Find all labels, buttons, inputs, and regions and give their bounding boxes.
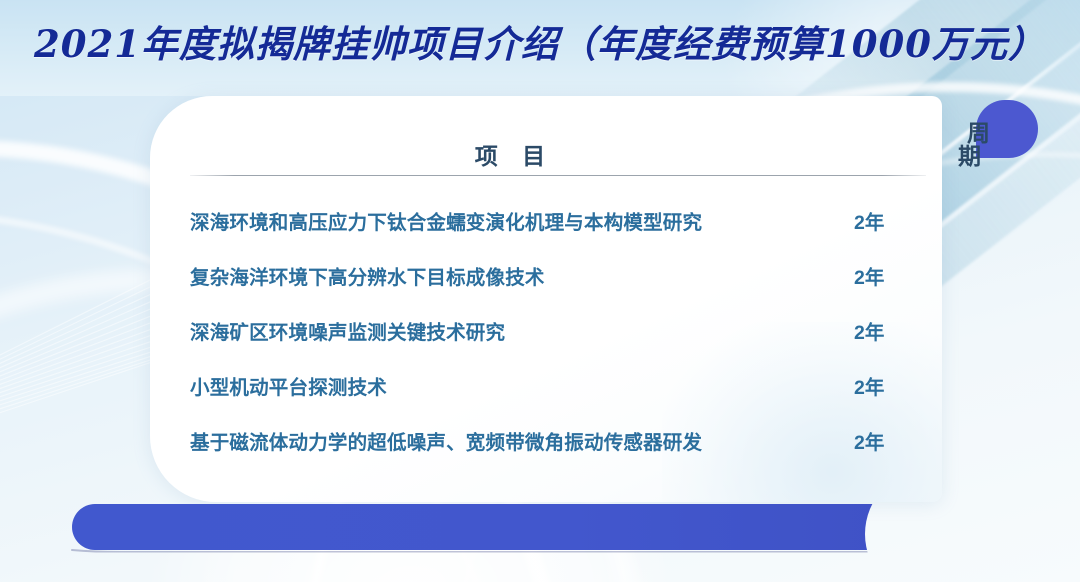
cell-project-name: 复杂海洋环境下高分辨水下目标成像技术 xyxy=(190,261,840,290)
cell-project-period: 2年 xyxy=(840,371,926,400)
cell-project-period: 2年 xyxy=(840,261,926,290)
cell-project-name: 深海环境和高压应力下钛合金蠕变演化机理与本构模型研究 xyxy=(190,206,840,235)
table-row[interactable]: 基于磁流体动力学的超低噪声、宽频带微角振动传感器研发 2年 xyxy=(190,413,926,468)
page-title: 2021年度拟揭牌挂帅项目介绍（年度经费预算1000万元） xyxy=(0,14,1080,68)
table-row[interactable]: 复杂海洋环境下高分辨水下目标成像技术 2年 xyxy=(190,248,926,303)
header-divider xyxy=(190,175,926,176)
table-row[interactable]: 小型机动平台探测技术 2年 xyxy=(190,358,926,413)
cell-project-period: 2年 xyxy=(840,426,926,455)
column-header-item: 项 目 xyxy=(190,145,950,168)
cell-project-name: 深海矿区环境噪声监测关键技术研究 xyxy=(190,316,840,345)
table-row[interactable]: 深海矿区环境噪声监测关键技术研究 2年 xyxy=(190,303,926,358)
slide-canvas: 2021年度拟揭牌挂帅项目介绍（年度经费预算1000万元） 项 目 周 期 深海… xyxy=(0,0,1080,582)
cell-project-period: 2年 xyxy=(840,206,926,235)
cell-project-name: 小型机动平台探测技术 xyxy=(190,371,840,400)
table-header-row: 项 目 周 期 xyxy=(190,120,926,168)
cell-project-name: 基于磁流体动力学的超低噪声、宽频带微角振动传感器研发 xyxy=(190,426,840,455)
column-header-period: 周 期 xyxy=(950,122,999,168)
cell-project-period: 2年 xyxy=(840,316,926,345)
table-body: 深海环境和高压应力下钛合金蠕变演化机理与本构模型研究 2年 复杂海洋环境下高分辨… xyxy=(190,193,926,468)
project-table: 项 目 周 期 深海环境和高压应力下钛合金蠕变演化机理与本构模型研究 2年 复杂… xyxy=(190,120,926,468)
table-row[interactable]: 深海环境和高压应力下钛合金蠕变演化机理与本构模型研究 2年 xyxy=(190,193,926,248)
